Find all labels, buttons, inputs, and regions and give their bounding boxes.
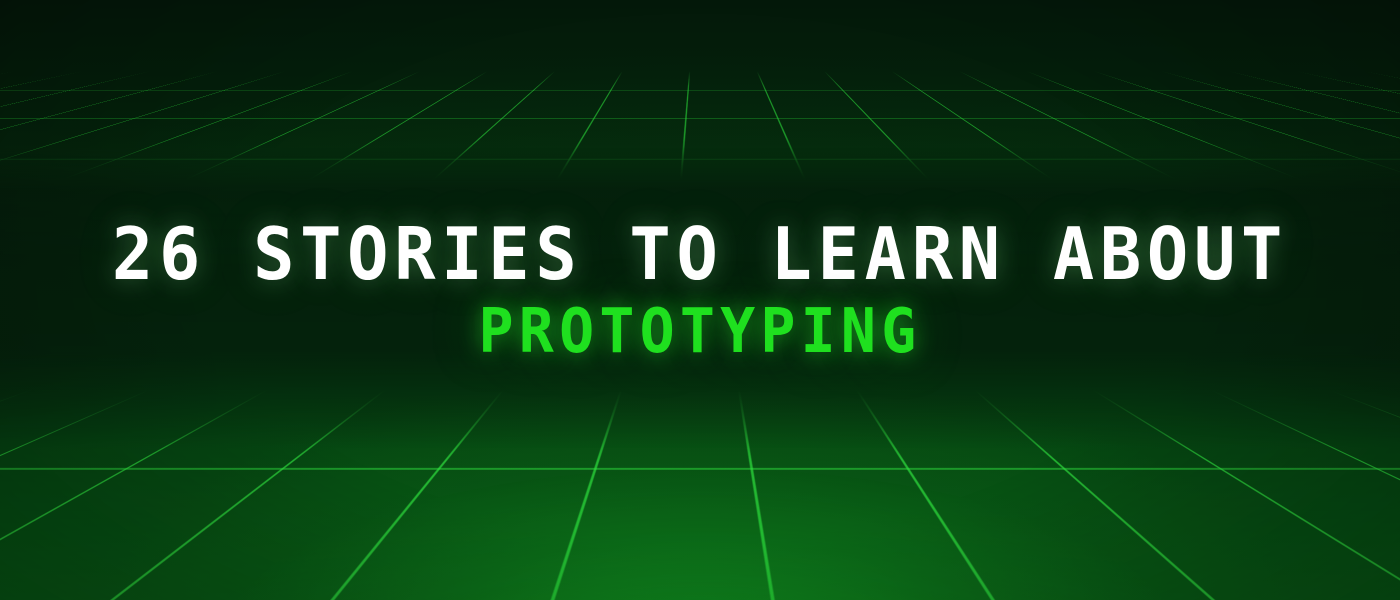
vignette-overlay (0, 0, 1400, 600)
center-band-overlay (0, 148, 1400, 448)
hero-banner: 26 STORIES TO LEARN ABOUT PROTOTYPING (0, 0, 1400, 600)
headline-block: 26 STORIES TO LEARN ABOUT PROTOTYPING (0, 222, 1400, 360)
floor-glow (0, 340, 1400, 600)
background-grid-bottom (0, 390, 1400, 600)
headline-primary-line: 26 STORIES TO LEARN ABOUT (0, 219, 1400, 292)
headline-accent-line: PROTOTYPING (0, 301, 1400, 363)
background-grid-top (0, 70, 1400, 180)
